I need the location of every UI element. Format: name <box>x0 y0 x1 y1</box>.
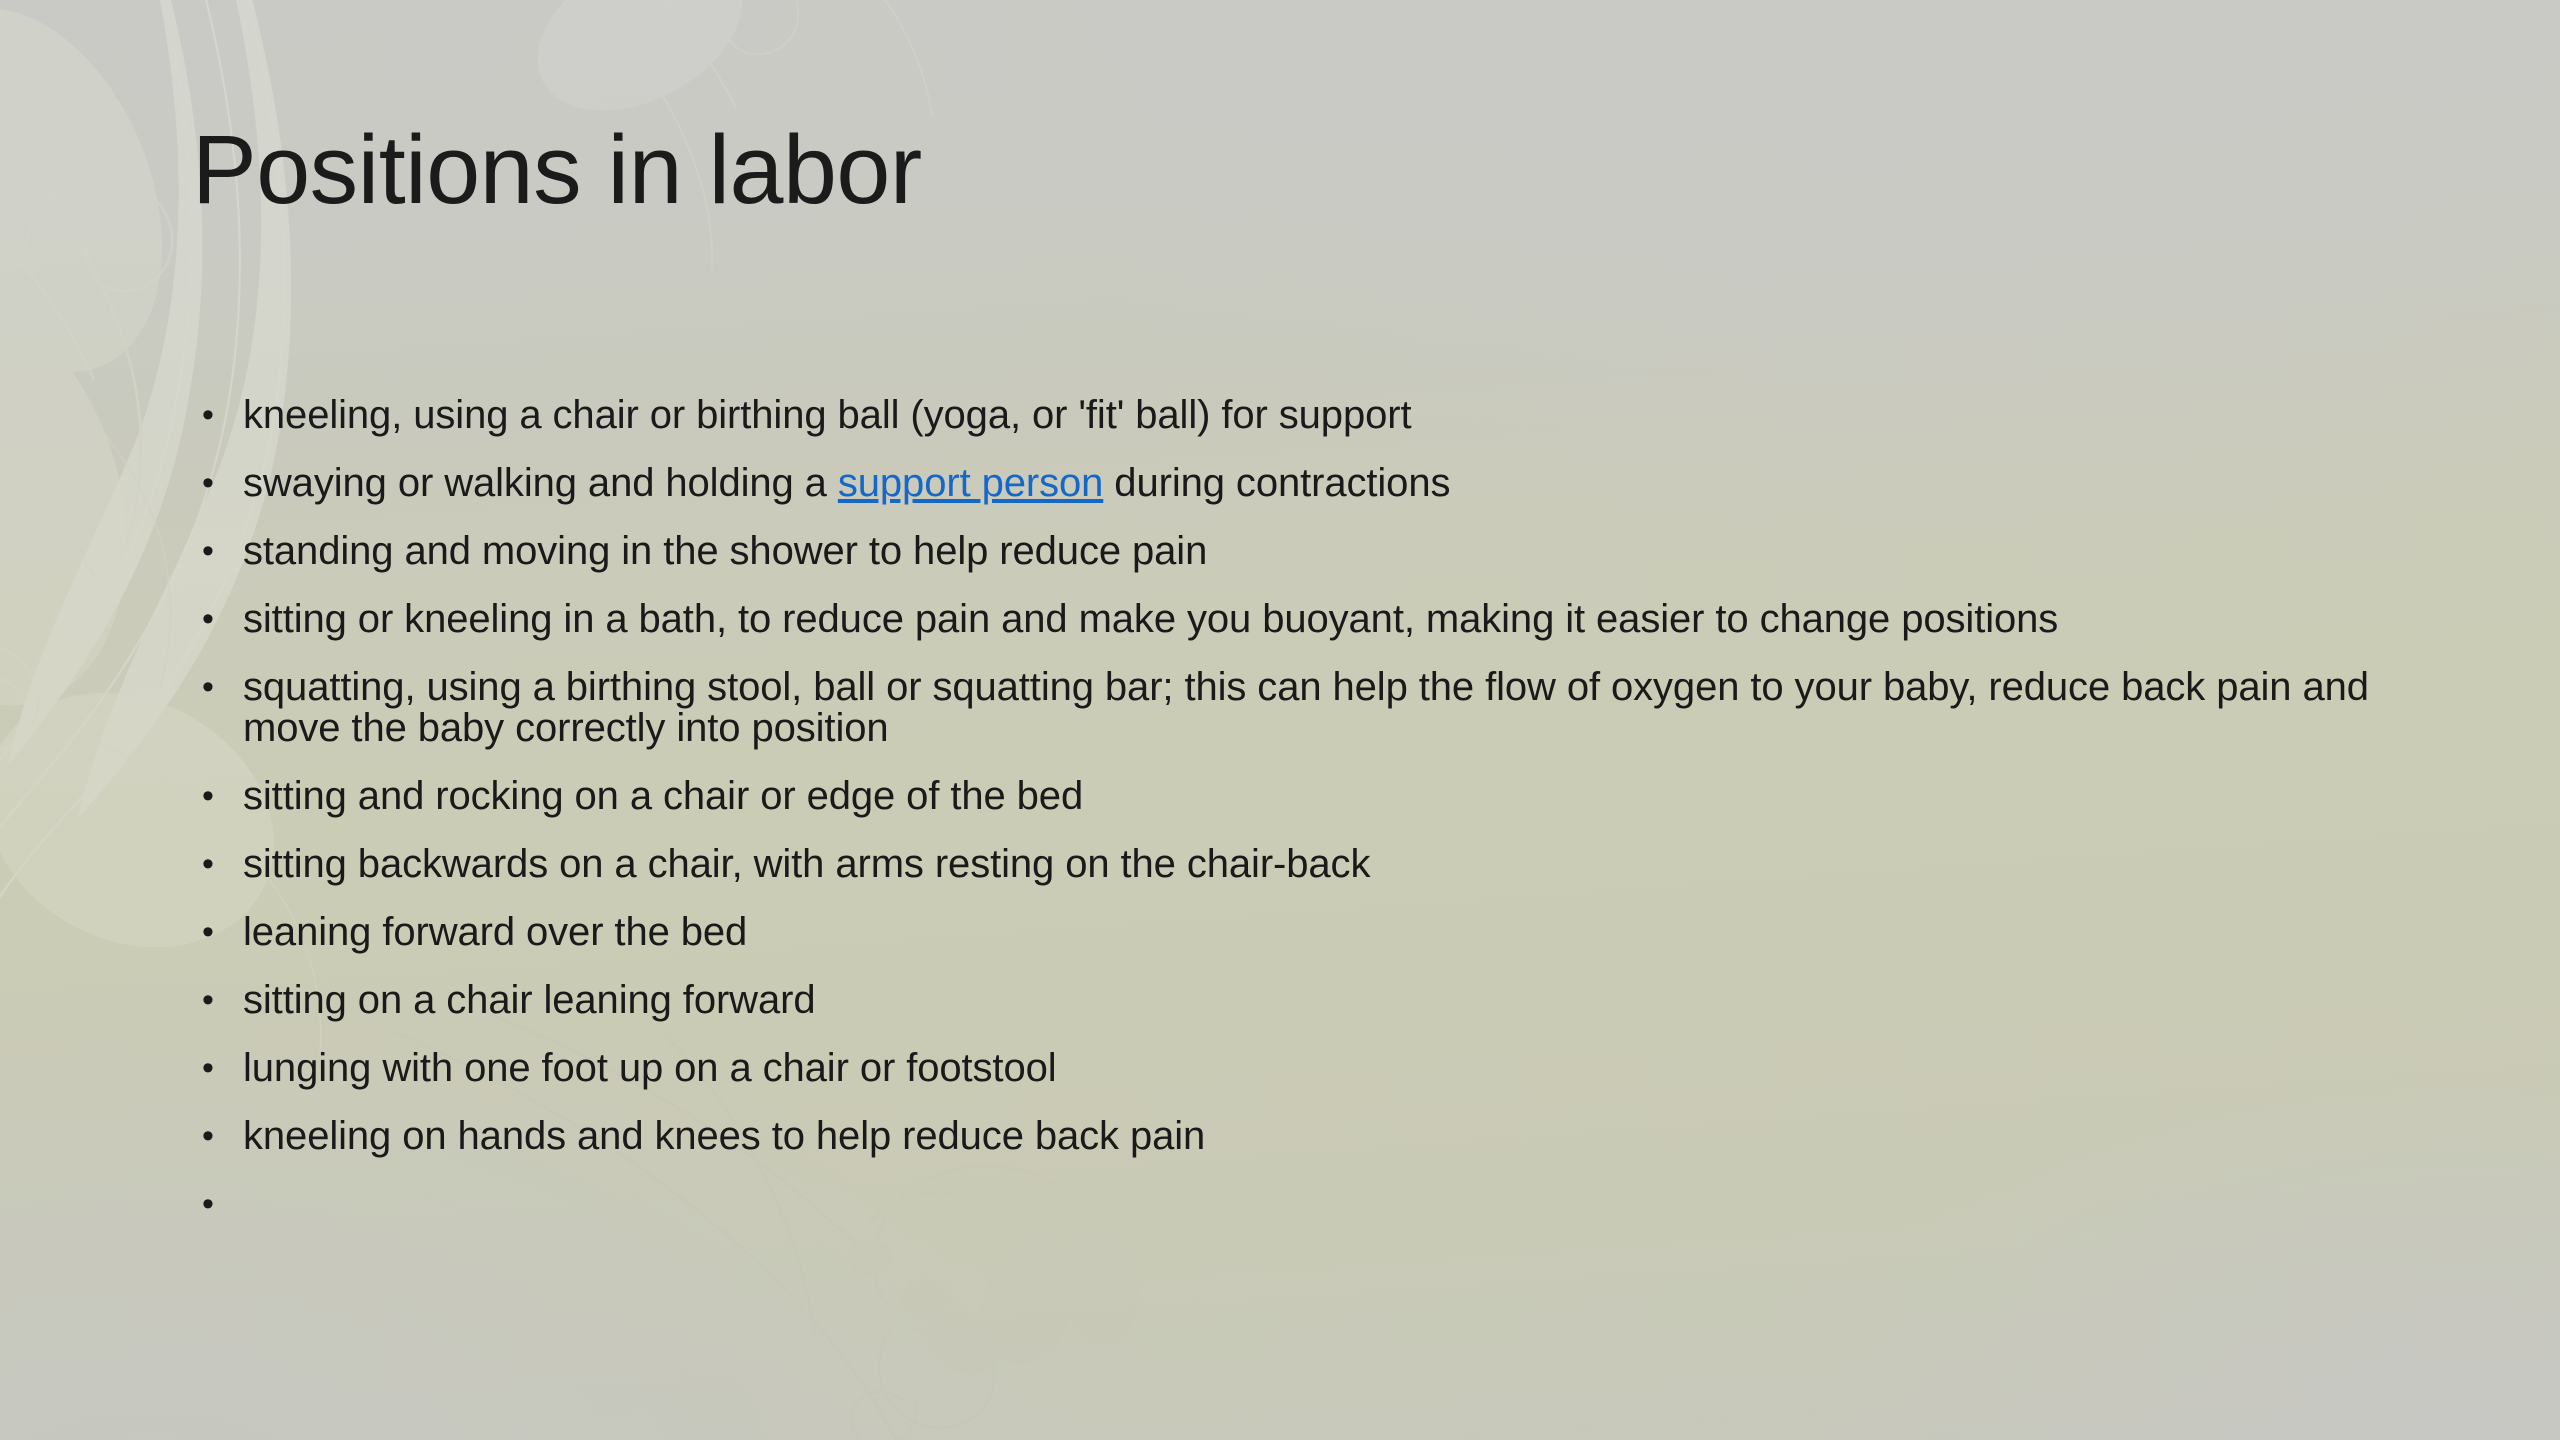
list-item: • leaning forward over the bed <box>188 899 2398 966</box>
bullet-dot-icon: • <box>202 763 216 830</box>
support-person-link[interactable]: support person <box>838 461 1103 505</box>
list-item-text-after-link: during contractions <box>1103 461 1450 505</box>
list-item-empty: • <box>188 1171 2398 1238</box>
list-item-label: squatting, using a birthing stool, ball … <box>243 665 2369 750</box>
list-item: • standing and moving in the shower to h… <box>188 518 2398 585</box>
list-item-label: sitting on a chair leaning forward <box>243 978 815 1022</box>
list-item: • kneeling on hands and knees to help re… <box>188 1103 2398 1170</box>
bullet-dot-icon: • <box>202 382 216 449</box>
list-item-label: sitting and rocking on a chair or edge o… <box>243 774 1083 818</box>
list-item-label: lunging with one foot up on a chair or f… <box>243 1046 1057 1090</box>
list-item: • swaying or walking and holding a suppo… <box>188 450 2398 517</box>
list-item-label: sitting or kneeling in a bath, to reduce… <box>243 597 2058 641</box>
bullet-dot-icon: • <box>202 450 216 517</box>
list-item: • sitting and rocking on a chair or edge… <box>188 763 2398 830</box>
bullet-dot-icon: • <box>202 1171 216 1238</box>
bullet-list: • kneeling, using a chair or birthing ba… <box>188 382 2398 1239</box>
bullet-dot-icon: • <box>202 667 216 708</box>
list-item: • squatting, using a birthing stool, bal… <box>188 654 2398 762</box>
page-title: Positions in labor <box>192 118 922 223</box>
list-item: • lunging with one foot up on a chair or… <box>188 1035 2398 1102</box>
list-item-label: kneeling on hands and knees to help redu… <box>243 1114 1205 1158</box>
bullet-dot-icon: • <box>202 518 216 585</box>
list-item-label: standing and moving in the shower to hel… <box>243 529 1207 573</box>
list-item: • sitting on a chair leaning forward <box>188 967 2398 1034</box>
list-item-label: leaning forward over the bed <box>243 910 747 954</box>
bullet-dot-icon: • <box>202 1035 216 1102</box>
bullet-dot-icon: • <box>202 586 216 653</box>
list-item: • sitting or kneeling in a bath, to redu… <box>188 586 2398 653</box>
list-item: • kneeling, using a chair or birthing ba… <box>188 382 2398 449</box>
bullet-dot-icon: • <box>202 899 216 966</box>
list-item-label: sitting backwards on a chair, with arms … <box>243 842 1370 886</box>
bullet-dot-icon: • <box>202 967 216 1034</box>
bullet-dot-icon: • <box>202 831 216 898</box>
presentation-slide: Positions in labor • kneeling, using a c… <box>0 0 2560 1440</box>
list-item-label: kneeling, using a chair or birthing ball… <box>243 393 1411 437</box>
list-item: • sitting backwards on a chair, with arm… <box>188 831 2398 898</box>
bullet-dot-icon: • <box>202 1103 216 1170</box>
list-item-text-before-link: swaying or walking and holding a <box>243 461 838 505</box>
